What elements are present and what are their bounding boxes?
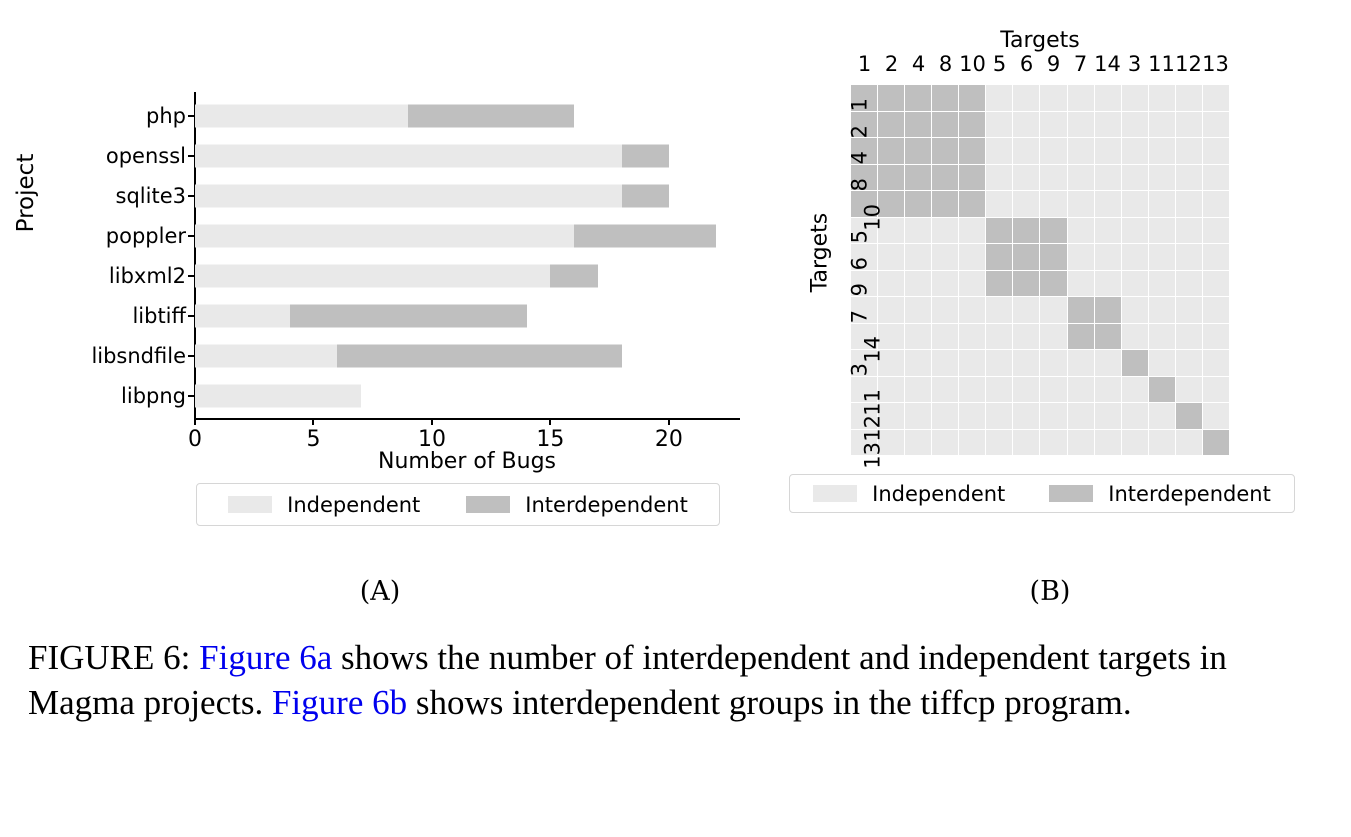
bar-segment-independent[interactable] (195, 305, 290, 328)
heatmap-cell[interactable] (878, 112, 904, 138)
heatmap-cell[interactable] (1068, 324, 1094, 350)
bar-row: libxml2 (195, 256, 740, 296)
heatmap-cell[interactable] (1013, 191, 1039, 217)
legend-swatch-independent-icon (228, 496, 272, 513)
heatmap-cell[interactable] (1068, 165, 1094, 191)
heatmap-cell[interactable] (1068, 112, 1094, 138)
legend-entry-interdependent-b: Interdependent (1049, 482, 1271, 506)
heatmap-cell[interactable] (1095, 112, 1121, 138)
bar-segment-independent[interactable] (195, 145, 622, 168)
stacked-bar[interactable] (195, 225, 716, 248)
heatmap-cell[interactable] (905, 297, 931, 323)
y-tick-label-libsndfile: libsndfile (91, 344, 186, 368)
x-tick-mark (431, 418, 433, 425)
heatmap-cell[interactable] (1149, 218, 1175, 244)
x-tick-label-20: 20 (655, 427, 683, 452)
heatmap-cell[interactable] (1122, 191, 1148, 217)
heatmap-cell[interactable] (1095, 377, 1121, 403)
heatmap-cell[interactable] (986, 377, 1012, 403)
heatmap-col-label-6: 6 (1020, 52, 1033, 76)
caption-link-figure-6b[interactable]: Figure 6b (272, 683, 407, 722)
heatmap-cell[interactable] (1095, 297, 1121, 323)
heatmap-cell[interactable] (1149, 271, 1175, 297)
y-tick-mark (188, 275, 195, 277)
x-axis-label: Number of Bugs (194, 449, 740, 474)
y-tick-mark (188, 355, 195, 357)
heatmap-cell[interactable] (1013, 112, 1039, 138)
y-tick-mark (188, 315, 195, 317)
legend-label-independent: Independent (287, 493, 420, 517)
heatmap-cell[interactable] (1203, 138, 1229, 164)
heatmap-cell[interactable] (1068, 138, 1094, 164)
heatmap-cell[interactable] (986, 218, 1012, 244)
heatmap-cell[interactable] (932, 218, 958, 244)
heatmap-cell[interactable] (1068, 218, 1094, 244)
heatmap-cell[interactable] (1013, 377, 1039, 403)
heatmap-cell[interactable] (1149, 244, 1175, 270)
heatmap-cell[interactable] (959, 430, 985, 456)
heatmap-row-label-7: 7 (847, 310, 871, 323)
heatmap-cell[interactable] (1149, 191, 1175, 217)
heatmap-cell[interactable] (1176, 218, 1202, 244)
heatmap-cell[interactable] (1203, 403, 1229, 429)
y-axis-label: Project (13, 123, 39, 263)
heatmap-cell[interactable] (1013, 430, 1039, 456)
heatmap-cell[interactable] (959, 138, 985, 164)
heatmap-cell[interactable] (1203, 324, 1229, 350)
heatmap-cell[interactable] (1203, 377, 1229, 403)
heatmap-cell[interactable] (905, 218, 931, 244)
y-tick-label-php: php (146, 104, 186, 128)
bar-row: sqlite3 (195, 176, 740, 216)
heatmap-cell[interactable] (1203, 430, 1229, 456)
y-tick-mark (188, 195, 195, 197)
x-tick-label-0: 0 (188, 427, 202, 452)
bar-row: openssl (195, 136, 740, 176)
heatmap-cell[interactable] (1068, 297, 1094, 323)
heatmap-cell[interactable] (878, 138, 904, 164)
heatmap-col-label-11: 11 (1148, 52, 1175, 76)
legend-panel-a: Independent Interdependent (196, 483, 720, 526)
heatmap-cell[interactable] (1068, 350, 1094, 376)
x-tick-mark (668, 418, 670, 425)
heatmap-row-label-8: 8 (847, 178, 871, 191)
heatmap-cell[interactable] (986, 350, 1012, 376)
legend-label-independent: Independent (872, 482, 1005, 506)
heatmap-cell[interactable] (1013, 244, 1039, 270)
heatmap-cell[interactable] (932, 403, 958, 429)
heatmap-cell[interactable] (1176, 377, 1202, 403)
heatmap-col-label-10: 10 (959, 52, 986, 76)
heatmap-cell[interactable] (1176, 191, 1202, 217)
bar-segment-interdependent[interactable] (550, 265, 597, 288)
heatmap-cell[interactable] (1040, 403, 1066, 429)
y-tick-label-sqlite3: sqlite3 (116, 184, 186, 208)
heatmap-cell[interactable] (932, 191, 958, 217)
heatmap-cell[interactable] (1095, 271, 1121, 297)
heatmap-cell[interactable] (1149, 350, 1175, 376)
heatmap-row-label-2: 2 (847, 125, 871, 138)
heatmap-cell[interactable] (959, 297, 985, 323)
heatmap-cell[interactable] (1176, 165, 1202, 191)
heatmap-cell[interactable] (1040, 271, 1066, 297)
heatmap-cell[interactable] (1068, 271, 1094, 297)
stacked-bar[interactable] (195, 265, 598, 288)
heatmap-row-label-4: 4 (847, 151, 871, 164)
heatmap-cell[interactable] (1149, 85, 1175, 111)
bar-segment-interdependent[interactable] (290, 305, 527, 328)
heatmap-cell[interactable] (932, 297, 958, 323)
bar-segment-interdependent[interactable] (622, 145, 669, 168)
y-tick-label-libtiff: libtiff (132, 304, 186, 328)
heatmap-cell[interactable] (1013, 271, 1039, 297)
heatmap-cell[interactable] (1149, 403, 1175, 429)
legend-panel-b: Independent Interdependent (789, 474, 1295, 513)
heatmap-cell[interactable] (1095, 138, 1121, 164)
heatmap-cell[interactable] (905, 377, 931, 403)
heatmap-cell[interactable] (878, 85, 904, 111)
subcaption-b: (B) (960, 576, 1140, 607)
bar-segment-interdependent[interactable] (408, 105, 574, 128)
heatmap-cell[interactable] (959, 191, 985, 217)
heatmap-cell[interactable] (1013, 297, 1039, 323)
heatmap-cell[interactable] (932, 85, 958, 111)
heatmap-col-label-7: 7 (1074, 52, 1087, 76)
panel-a-bar-chart: Project phpopensslsqlite3popplerlibxml2l… (0, 0, 740, 540)
heatmap-cell[interactable] (1068, 430, 1094, 456)
heatmap-col-label-1: 1 (858, 52, 871, 76)
caption-prefix: FIGURE 6: (28, 638, 199, 677)
heatmap-cell[interactable] (1149, 324, 1175, 350)
heatmap-cell[interactable] (1176, 112, 1202, 138)
heatmap-row-label-11: 11 (861, 389, 885, 416)
subcaption-a: (A) (290, 576, 470, 607)
heatmap-row-label-1: 1 (847, 98, 871, 111)
heatmap-cell[interactable] (932, 350, 958, 376)
heatmap-cell[interactable] (1040, 324, 1066, 350)
heatmap-row-label-5: 5 (847, 230, 871, 243)
heatmap-row-label-14: 14 (861, 336, 885, 363)
heatmap-cell[interactable] (905, 430, 931, 456)
heatmap-col-label-8: 8 (939, 52, 952, 76)
heatmap-cell[interactable] (905, 165, 931, 191)
heatmap-cell[interactable] (1013, 324, 1039, 350)
heatmap-cell[interactable] (878, 271, 904, 297)
heatmap-cell[interactable] (905, 271, 931, 297)
heatmap-cell[interactable] (1176, 430, 1202, 456)
heatmap-cell[interactable] (1095, 350, 1121, 376)
heatmap-col-label-13: 13 (1202, 52, 1229, 76)
heatmap-col-label-5: 5 (993, 52, 1006, 76)
bar-row: poppler (195, 216, 740, 256)
stacked-bar[interactable] (195, 185, 669, 208)
bar-row: libpng (195, 376, 740, 416)
legend-label-interdependent: Interdependent (1108, 482, 1271, 506)
heatmap-cell[interactable] (905, 244, 931, 270)
legend-entry-interdependent: Interdependent (466, 493, 688, 517)
heatmap-row-label-3: 3 (847, 363, 871, 376)
heatmap-cell[interactable] (986, 85, 1012, 111)
heatmap-cell[interactable] (986, 403, 1012, 429)
heatmap-cell[interactable] (1122, 350, 1148, 376)
heatmap-col-label-14: 14 (1094, 52, 1121, 76)
heatmap-cell[interactable] (1203, 350, 1229, 376)
heatmap-cell[interactable] (1176, 297, 1202, 323)
heatmap-row-label-6: 6 (847, 257, 871, 270)
heatmap-cell[interactable] (905, 85, 931, 111)
heatmap-cell[interactable] (1203, 271, 1229, 297)
heatmap-cell[interactable] (1095, 324, 1121, 350)
x-tick-mark (312, 418, 314, 425)
heatmap-cell[interactable] (1040, 244, 1066, 270)
heatmap-cell[interactable] (1040, 218, 1066, 244)
heatmap-cell[interactable] (1176, 138, 1202, 164)
heatmap-cell[interactable] (905, 138, 931, 164)
x-tick-mark (549, 418, 551, 425)
heatmap-cell[interactable] (1203, 165, 1229, 191)
heatmap-cell[interactable] (1149, 377, 1175, 403)
x-tick-label-5: 5 (306, 427, 320, 452)
heatmap-cell[interactable] (932, 165, 958, 191)
heatmap-cell[interactable] (959, 403, 985, 429)
heatmap-cell[interactable] (959, 165, 985, 191)
bar-row: php (195, 96, 740, 136)
heatmap-cell[interactable] (1013, 165, 1039, 191)
y-tick-mark (188, 235, 195, 237)
heatmap-cell[interactable] (1095, 403, 1121, 429)
heatmap-cell[interactable] (1122, 218, 1148, 244)
heatmap-cell[interactable] (1040, 350, 1066, 376)
heatmap-cell[interactable] (1040, 85, 1066, 111)
x-tick-label-10: 10 (418, 427, 446, 452)
heatmap-y-axis-label: Targets (808, 173, 833, 333)
heatmap-cell[interactable] (932, 271, 958, 297)
y-tick-label-poppler: poppler (106, 224, 186, 248)
heatmap-cell[interactable] (1040, 191, 1066, 217)
heatmap-cell[interactable] (1122, 244, 1148, 270)
heatmap-cell[interactable] (1203, 218, 1229, 244)
heatmap-cell[interactable] (1149, 112, 1175, 138)
y-tick-label-openssl: openssl (106, 144, 186, 168)
bar-row: libtiff (195, 296, 740, 336)
heatmap-cell[interactable] (1122, 85, 1148, 111)
heatmap-cell[interactable] (1176, 244, 1202, 270)
heatmap-cell[interactable] (1013, 350, 1039, 376)
heatmap-col-label-3: 3 (1128, 52, 1141, 76)
heatmap-cell[interactable] (1068, 85, 1094, 111)
stacked-bar[interactable] (195, 145, 669, 168)
heatmap-cell[interactable] (959, 85, 985, 111)
heatmap-cell[interactable] (959, 244, 985, 270)
heatmap-cell[interactable] (1068, 244, 1094, 270)
bar-segment-independent[interactable] (195, 265, 550, 288)
heatmap-cell[interactable] (1176, 271, 1202, 297)
heatmap-cell[interactable] (1149, 138, 1175, 164)
heatmap-cell[interactable] (1149, 165, 1175, 191)
heatmap-cell[interactable] (1203, 191, 1229, 217)
heatmap-cell[interactable] (959, 112, 985, 138)
stacked-bar[interactable] (195, 385, 361, 408)
heatmap-col-label-4: 4 (912, 52, 925, 76)
heatmap-cell[interactable] (1122, 112, 1148, 138)
bar-row: libsndfile (195, 336, 740, 376)
stacked-bar[interactable] (195, 305, 527, 328)
heatmap-cell[interactable] (1040, 377, 1066, 403)
heatmap-col-label-2: 2 (885, 52, 898, 76)
heatmap-cell[interactable] (1176, 324, 1202, 350)
heatmap-cell[interactable] (986, 324, 1012, 350)
figure-caption: FIGURE 6: Figure 6a shows the number of … (28, 636, 1318, 726)
heatmap-cell[interactable] (1203, 297, 1229, 323)
heatmap-cell[interactable] (1095, 85, 1121, 111)
heatmap-cell[interactable] (1203, 112, 1229, 138)
heatmap-cell[interactable] (905, 403, 931, 429)
heatmap-cell[interactable] (1095, 430, 1121, 456)
heatmap-cell[interactable] (986, 112, 1012, 138)
heatmap-cell[interactable] (1068, 403, 1094, 429)
bar-plot-area: phpopensslsqlite3popplerlibxml2libtiffli… (195, 96, 740, 416)
heatmap-cell[interactable] (959, 271, 985, 297)
heatmap-cell[interactable] (986, 191, 1012, 217)
heatmap-cell[interactable] (932, 324, 958, 350)
heatmap-cell[interactable] (1203, 85, 1229, 111)
heatmap-cell[interactable] (986, 271, 1012, 297)
heatmap-cell[interactable] (1122, 138, 1148, 164)
bar-segment-independent[interactable] (195, 185, 622, 208)
legend-entry-independent: Independent (228, 493, 420, 517)
legend-label-interdependent: Interdependent (525, 493, 688, 517)
heatmap-x-axis-label: Targets (851, 28, 1229, 53)
x-tick-label-15: 15 (536, 427, 564, 452)
heatmap-cell[interactable] (986, 297, 1012, 323)
heatmap-cell[interactable] (1176, 403, 1202, 429)
heatmap-cell[interactable] (1122, 165, 1148, 191)
heatmap-cell[interactable] (1122, 430, 1148, 456)
bar-segment-interdependent[interactable] (622, 185, 669, 208)
y-tick-label-libxml2: libxml2 (109, 264, 186, 288)
heatmap-cell[interactable] (878, 244, 904, 270)
heatmap-cell[interactable] (878, 165, 904, 191)
heatmap-row-label-9: 9 (847, 283, 871, 296)
heatmap-cell[interactable] (959, 350, 985, 376)
legend-entry-independent-b: Independent (813, 482, 1005, 506)
heatmap-cell[interactable] (1095, 218, 1121, 244)
heatmap-cell[interactable] (1013, 218, 1039, 244)
stacked-bar[interactable] (195, 105, 574, 128)
heatmap-col-label-12: 12 (1175, 52, 1202, 76)
heatmap-cell[interactable] (905, 191, 931, 217)
heatmap-cell[interactable] (932, 430, 958, 456)
heatmap-cell[interactable] (1203, 244, 1229, 270)
bar-segment-independent[interactable] (195, 385, 361, 408)
y-tick-mark (188, 155, 195, 157)
x-tick-mark (194, 418, 196, 425)
heatmap-cell[interactable] (1095, 244, 1121, 270)
heatmap-cell[interactable] (905, 350, 931, 376)
heatmap-cell[interactable] (1122, 403, 1148, 429)
heatmap-cell[interactable] (932, 377, 958, 403)
heatmap-cell[interactable] (878, 297, 904, 323)
bar-segment-independent[interactable] (195, 225, 574, 248)
legend-swatch-independent-icon (813, 485, 857, 502)
legend-swatch-interdependent-icon (1049, 485, 1093, 502)
heatmap-cell[interactable] (1013, 85, 1039, 111)
heatmap-cell[interactable] (1122, 377, 1148, 403)
figure-page: Project phpopensslsqlite3popplerlibxml2l… (0, 0, 1351, 837)
legend-swatch-interdependent-icon (466, 496, 510, 513)
heatmap-cell[interactable] (932, 138, 958, 164)
heatmap-cell[interactable] (1122, 297, 1148, 323)
caption-text-2: shows interdependent groups in the tiffc… (407, 683, 1131, 722)
heatmap-cell[interactable] (1040, 138, 1066, 164)
bar-segment-independent[interactable] (195, 345, 337, 368)
heatmap-cell[interactable] (1149, 430, 1175, 456)
heatmap-cell[interactable] (1040, 430, 1066, 456)
heatmap-cell[interactable] (932, 244, 958, 270)
heatmap-cell[interactable] (1040, 297, 1066, 323)
y-tick-mark (188, 115, 195, 117)
y-tick-label-libpng: libpng (121, 384, 186, 408)
heatmap-cell[interactable] (1122, 271, 1148, 297)
heatmap-cell[interactable] (1068, 377, 1094, 403)
heatmap-cell[interactable] (959, 218, 985, 244)
heatmap-cell[interactable] (932, 112, 958, 138)
bar-segment-interdependent[interactable] (337, 345, 621, 368)
heatmap-cell[interactable] (1068, 191, 1094, 217)
heatmap-cell[interactable] (959, 377, 985, 403)
heatmap-cell[interactable] (905, 112, 931, 138)
heatmap-cell[interactable] (986, 430, 1012, 456)
heatmap-cell[interactable] (1040, 112, 1066, 138)
heatmap-cell[interactable] (1013, 138, 1039, 164)
bar-segment-interdependent[interactable] (574, 225, 716, 248)
stacked-bar[interactable] (195, 345, 622, 368)
heatmap-cell[interactable] (1095, 191, 1121, 217)
heatmap-cell[interactable] (986, 244, 1012, 270)
heatmap-grid (851, 85, 1229, 455)
x-axis-line (194, 418, 740, 420)
heatmap-row-label-13: 13 (861, 442, 885, 469)
y-tick-mark (188, 395, 195, 397)
heatmap-cell[interactable] (986, 165, 1012, 191)
heatmap-cell[interactable] (959, 324, 985, 350)
heatmap-col-label-9: 9 (1047, 52, 1060, 76)
heatmap-cell[interactable] (1176, 85, 1202, 111)
heatmap-cell[interactable] (1149, 297, 1175, 323)
heatmap-cell[interactable] (1095, 165, 1121, 191)
heatmap-row-label-10: 10 (861, 204, 885, 231)
heatmap-cell[interactable] (986, 138, 1012, 164)
caption-link-figure-6a[interactable]: Figure 6a (199, 638, 332, 677)
heatmap-cell[interactable] (905, 324, 931, 350)
bar-segment-independent[interactable] (195, 105, 408, 128)
heatmap-row-label-12: 12 (861, 415, 885, 442)
heatmap-cell[interactable] (1013, 403, 1039, 429)
heatmap-cell[interactable] (1176, 350, 1202, 376)
heatmap-cell[interactable] (1122, 324, 1148, 350)
heatmap-cell[interactable] (1040, 165, 1066, 191)
